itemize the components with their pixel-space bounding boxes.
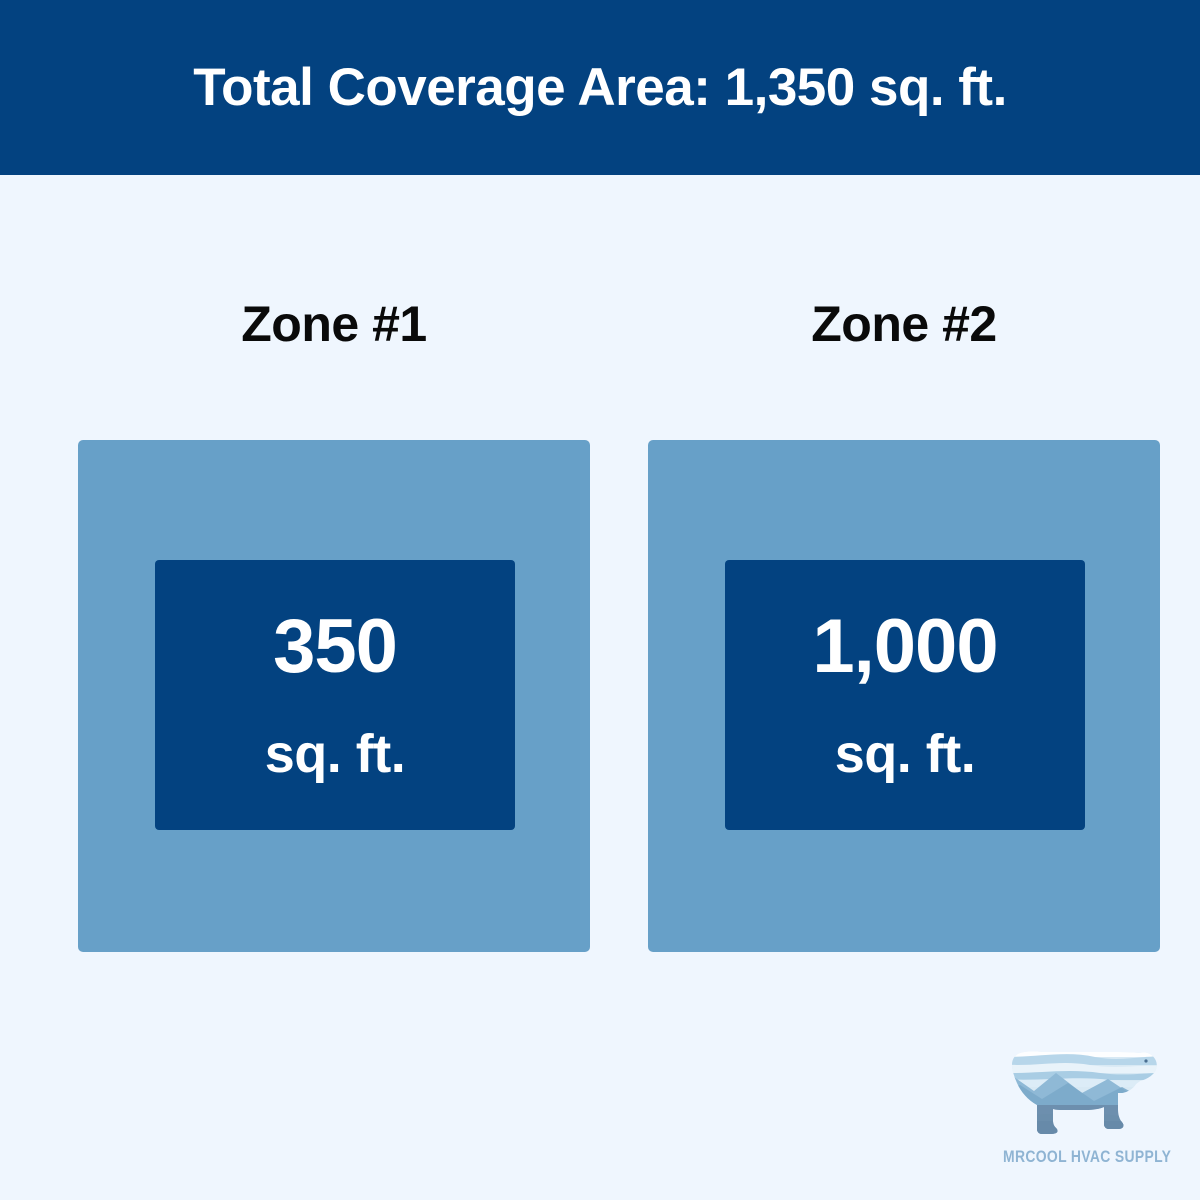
- zone-inner-box-2: 1,000 sq. ft.: [725, 560, 1085, 830]
- zone-value-1: 350: [273, 609, 397, 685]
- zone-label-1: Zone #1: [78, 299, 590, 349]
- zone-inner-box-1: 350 sq. ft.: [155, 560, 515, 830]
- zone-unit-1: sq. ft.: [265, 727, 406, 781]
- header-band: Total Coverage Area: 1,350 sq. ft.: [0, 0, 1200, 175]
- zones-container: Zone #1 350 sq. ft. Zone #2 1,000 sq. ft…: [0, 175, 1200, 1015]
- polar-bear-icon: [990, 1035, 1170, 1145]
- zone-outer-box-2: 1,000 sq. ft.: [648, 440, 1160, 952]
- zone-unit-2: sq. ft.: [835, 727, 976, 781]
- zone-outer-box-1: 350 sq. ft.: [78, 440, 590, 952]
- zone-label-2: Zone #2: [648, 299, 1160, 349]
- infographic-canvas: Total Coverage Area: 1,350 sq. ft. Zone …: [0, 0, 1200, 1200]
- page-title: Total Coverage Area: 1,350 sq. ft.: [193, 57, 1007, 118]
- brand-logo: MRCOOL HVAC SUPPLY: [985, 1035, 1185, 1185]
- brand-logo-text: MRCOOL HVAC SUPPLY: [1003, 1147, 1167, 1167]
- zone-value-2: 1,000: [812, 609, 997, 685]
